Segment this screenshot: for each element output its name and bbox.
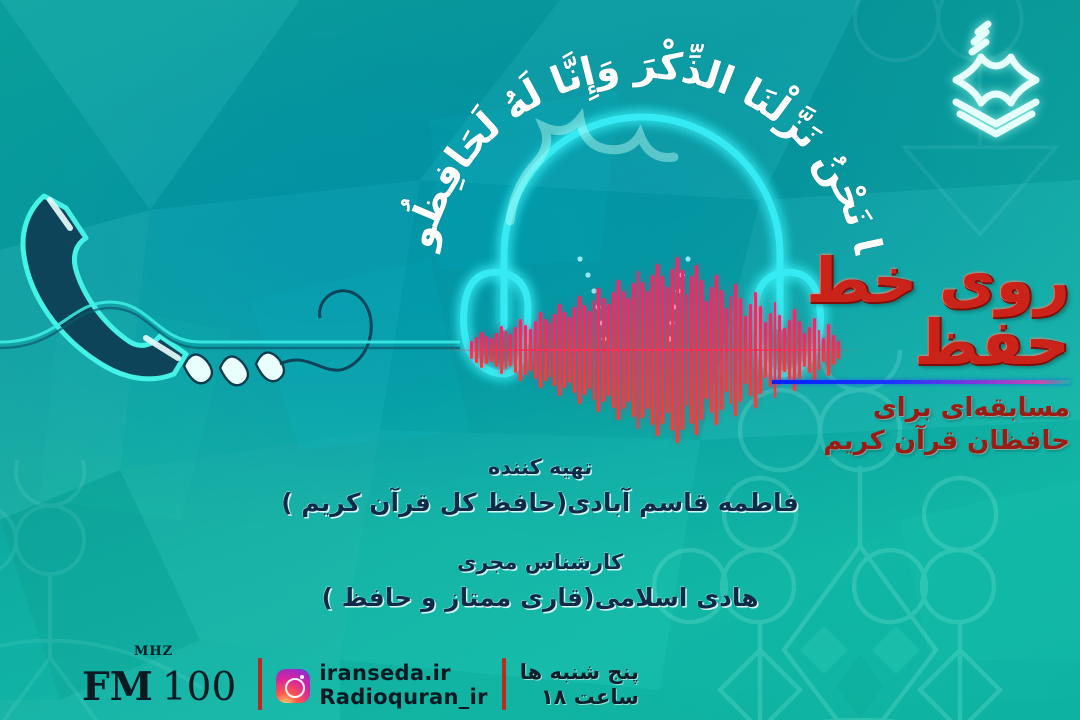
waveform-bar xyxy=(754,292,757,408)
footer-divider-1 xyxy=(258,658,262,710)
waveform-bar xyxy=(710,287,713,413)
radio-frequency: MHZ FM 100 xyxy=(60,664,244,712)
social-handles[interactable]: iranseda.ir Radioquran_ir xyxy=(319,662,487,710)
waveform-bar xyxy=(764,322,767,378)
waveform-bar xyxy=(558,304,561,396)
credit-person-name: هادی اسلامی(قاری ممتاز و حافظ ) xyxy=(0,579,1080,617)
frequency-unit-label: MHZ xyxy=(134,644,173,659)
schedule-day: پنج شنبه ها xyxy=(520,660,639,685)
waveform-bar xyxy=(661,276,664,424)
credit-person-name: فاطمه قاسم آبادی(حافظ کل قرآن کریم ) xyxy=(0,484,1080,522)
frequency-value: 100 xyxy=(162,665,236,710)
phone-cord xyxy=(180,240,510,400)
waveform-bar xyxy=(695,265,698,435)
instagram-icon[interactable] xyxy=(276,669,310,703)
social-block[interactable]: iranseda.ir Radioquran_ir xyxy=(276,662,487,712)
waveform-bar xyxy=(690,276,693,424)
waveform-bar xyxy=(734,284,737,416)
website-link[interactable]: iranseda.ir xyxy=(319,662,487,686)
waveform-bar xyxy=(646,291,649,409)
waveform-bar xyxy=(725,308,728,392)
waveform-bar xyxy=(553,314,556,386)
poster-canvas: إِنَّا نَحْنُ نَزَّلْنَا الذِّكْرَ وَإِن… xyxy=(0,0,1080,720)
waveform-bar xyxy=(519,319,522,381)
credit-role-label: کارشناس مجری xyxy=(0,547,1080,579)
waveform-bar xyxy=(544,319,547,381)
broadcast-schedule: پنج شنبه ها ساعت ۱۸ xyxy=(520,660,639,712)
credit-producer: تهیه کننده فاطمه قاسم آبادی(حافظ کل قرآن… xyxy=(0,452,1080,521)
waveform-bar xyxy=(715,275,718,425)
credit-role-label: تهیه کننده xyxy=(0,452,1080,484)
page-subtitle: مسابقه‌ای برای حافظان قرآن کریم xyxy=(770,392,1070,457)
waveform-bar xyxy=(705,301,708,399)
waveform-bar xyxy=(676,257,679,443)
waveform-bar xyxy=(700,280,703,420)
waveform-bar xyxy=(578,296,581,404)
band-label: FM xyxy=(82,664,153,710)
irib-quran-radio-logo xyxy=(936,18,1056,148)
waveform-bar xyxy=(671,269,674,431)
waveform-bar xyxy=(632,283,635,417)
waveform-bar xyxy=(593,300,596,400)
waveform-bar xyxy=(666,287,669,413)
waveform-bar xyxy=(529,329,532,371)
waveform-bar xyxy=(597,288,600,412)
waveform-bar xyxy=(602,298,605,402)
waveform-bar xyxy=(563,312,566,388)
waveform-bar xyxy=(568,317,571,383)
credit-presenter: کارشناس مجری هادی اسلامی(قاری ممتاز و حا… xyxy=(0,547,1080,616)
title-block: روی خط حفظ مسابقه‌ای برای حافظان قرآن کر… xyxy=(770,250,1070,457)
waveform-bar xyxy=(612,292,615,408)
waveform-bar xyxy=(583,305,586,395)
waveform-bar xyxy=(730,296,733,404)
title-underline xyxy=(772,380,1070,384)
waveform-bar xyxy=(573,307,576,393)
instagram-handle[interactable]: Radioquran_ir xyxy=(319,686,487,710)
footer-bar: MHZ FM 100 iranseda.ir Radioquran_ir پنج… xyxy=(60,658,639,712)
waveform-bar xyxy=(627,298,630,402)
waveform-bar xyxy=(651,275,654,425)
waveform-bar xyxy=(607,304,610,396)
waveform-bar xyxy=(759,306,762,394)
waveform-bar xyxy=(681,270,684,430)
waveform-bar xyxy=(641,282,644,418)
waveform-bar xyxy=(588,311,591,389)
waveform-bar xyxy=(549,323,552,377)
footer-divider-2 xyxy=(502,658,506,710)
credits-section: تهیه کننده فاطمه قاسم آبادی(حافظ کل قرآن… xyxy=(0,452,1080,642)
waveform-bar xyxy=(739,298,742,402)
waveform-bar xyxy=(637,271,640,429)
page-title: روی خط حفظ xyxy=(770,250,1070,374)
waveform-bar xyxy=(656,264,659,436)
waveform-bar xyxy=(749,304,752,396)
schedule-time: ساعت ۱۸ xyxy=(520,685,639,710)
waveform-bar xyxy=(539,312,542,388)
waveform-bar xyxy=(720,290,723,410)
waveform-bar xyxy=(617,280,620,420)
waveform-bar xyxy=(622,291,625,409)
waveform-bar xyxy=(514,327,517,373)
waveform-bar xyxy=(524,325,527,375)
waveform-bar xyxy=(686,294,689,406)
waveform-bar xyxy=(744,316,747,384)
waveform-bar xyxy=(534,321,537,379)
